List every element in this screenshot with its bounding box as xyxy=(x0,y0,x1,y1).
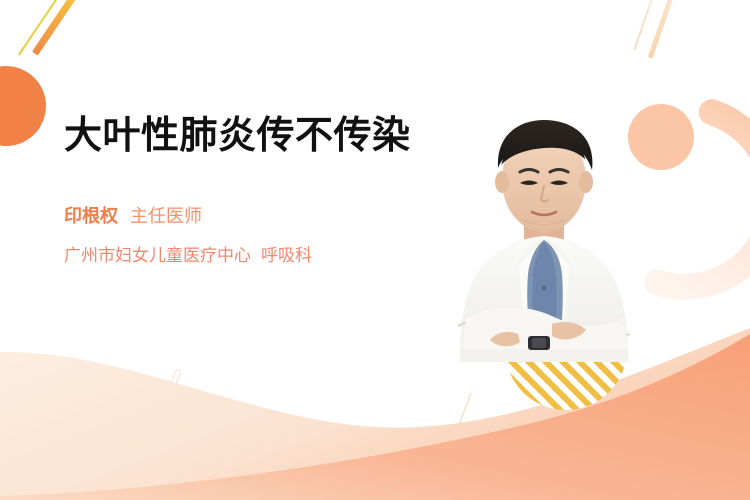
diagonal-stripe-cream-thin-icon xyxy=(633,0,658,50)
cover-text-block: 大叶性肺炎传不传染 印根权主任医师 广州市妇女儿童医疗中心呼吸科 xyxy=(64,112,424,268)
doctor-hospital: 广州市妇女儿童医疗中心 xyxy=(64,246,251,265)
doctor-department: 呼吸科 xyxy=(261,246,312,265)
orange-circle-decoration-icon xyxy=(0,66,46,146)
diagonal-stripe-orange-thick-icon xyxy=(32,0,79,56)
diagonal-stripe-yellow-thin-icon xyxy=(18,0,64,56)
diagonal-stripe-outline-icon xyxy=(160,368,181,411)
video-cover-card: 大叶性肺炎传不传染 印根权主任医师 广州市妇女儿童医疗中心呼吸科 xyxy=(0,0,750,500)
doctor-name-line: 印根权主任医师 xyxy=(64,203,424,230)
doctor-rank: 主任医师 xyxy=(130,206,202,226)
doctor-portrait xyxy=(432,112,656,362)
doctor-affiliation-line: 广州市妇女儿童医疗中心呼吸科 xyxy=(64,243,424,269)
page-title: 大叶性肺炎传不传染 xyxy=(64,112,424,161)
diagonal-stripe-faint-icon xyxy=(458,393,472,425)
doctor-credits: 印根权主任医师 广州市妇女儿童医疗中心呼吸科 xyxy=(64,203,424,269)
doctor-name: 印根权 xyxy=(64,206,118,226)
diagonal-stripe-cream-thick-icon xyxy=(648,0,677,59)
